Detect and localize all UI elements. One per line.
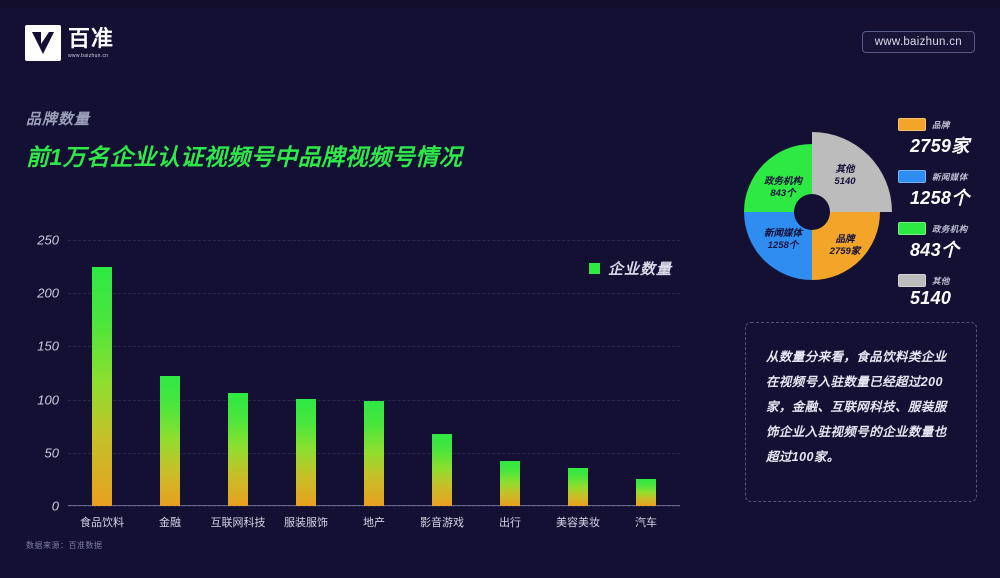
grid-line — [68, 506, 680, 507]
bar-chart-legend: 企业数量 — [589, 258, 672, 279]
brand-logo: 百准 www.baizhun.cn — [25, 25, 114, 61]
legend-swatch-icon — [898, 274, 926, 287]
donut-legend-item[interactable]: 政务机构843个 — [898, 222, 996, 262]
grid-line — [68, 346, 680, 347]
legend-swatch-icon — [589, 263, 600, 274]
x-axis-tick-label: 地产 — [363, 514, 385, 530]
bar[interactable] — [228, 393, 248, 506]
x-axis-tick-label: 美容美妆 — [556, 514, 600, 530]
donut-label-other: 其他5140 — [816, 164, 874, 188]
section-subtitle: 品牌数量 — [26, 108, 90, 129]
y-axis-tick-label: 200 — [37, 286, 59, 301]
donut-legend-item[interactable]: 其他5140 — [898, 274, 996, 309]
y-axis-tick-label: 100 — [37, 392, 59, 407]
donut-chart-svg — [722, 122, 902, 302]
bar-chart: 050100150200250食品饮料金融互联网科技服装服饰地产影音游戏出行美容… — [20, 228, 690, 528]
bar[interactable] — [636, 479, 656, 506]
bar-chart-plot-area: 050100150200250食品饮料金融互联网科技服装服饰地产影音游戏出行美容… — [68, 240, 680, 506]
donut-label-government: 政务机构843个 — [752, 176, 814, 200]
x-axis-tick-label: 影音游戏 — [420, 514, 464, 530]
donut-legend-name: 新闻媒体 — [932, 171, 968, 183]
x-axis-tick-label: 出行 — [499, 514, 521, 530]
slide-canvas: 百准 www.baizhun.cn www.baizhun.cn 品牌数量 前1… — [0, 0, 1000, 578]
donut-legend-name: 政务机构 — [932, 223, 968, 235]
donut-legend-value: 5140 — [910, 288, 996, 309]
bar[interactable] — [500, 461, 520, 506]
insight-note-box: 从数量分来看，食品饮料类企业在视频号入驻数量已经超过200家，金融、互联网科技、… — [745, 322, 977, 502]
x-axis-tick-label: 服装服饰 — [284, 514, 328, 530]
y-axis-tick-label: 250 — [37, 233, 59, 248]
x-axis-tick-label: 汽车 — [635, 514, 657, 530]
data-source-note: 数据来源：百准数据 — [26, 540, 103, 551]
legend-swatch-icon — [898, 170, 926, 183]
bar[interactable] — [364, 401, 384, 506]
logo-check-icon — [25, 25, 61, 61]
bar[interactable] — [296, 399, 316, 506]
grid-line — [68, 240, 680, 241]
bar[interactable] — [92, 267, 112, 506]
legend-swatch-icon — [898, 118, 926, 131]
x-axis-tick-label: 食品饮料 — [80, 514, 124, 530]
bar[interactable] — [568, 468, 588, 506]
donut-chart: 政务机构843个 新闻媒体1258个 品牌2759家 其他5140 — [722, 122, 902, 302]
logo-wordmark: 百准 — [68, 28, 114, 50]
donut-legend-item[interactable]: 新闻媒体1258个 — [898, 170, 996, 210]
legend-swatch-icon — [898, 222, 926, 235]
top-band — [0, 0, 1000, 8]
bar[interactable] — [432, 434, 452, 506]
page-title: 前1万名企业认证视频号中品牌视频号情况 — [26, 138, 462, 172]
donut-legend-value: 843个 — [910, 236, 996, 262]
website-badge[interactable]: www.baizhun.cn — [862, 31, 975, 53]
legend-label: 企业数量 — [608, 258, 672, 279]
grid-line — [68, 293, 680, 294]
logo-url-text: www.baizhun.cn — [68, 53, 114, 59]
donut-legend-name: 其他 — [932, 275, 950, 287]
y-axis-tick-label: 0 — [52, 499, 59, 514]
donut-legend-name: 品牌 — [932, 119, 950, 131]
donut-legend-value: 1258个 — [910, 184, 996, 210]
y-axis-tick-label: 50 — [45, 445, 59, 460]
donut-label-news-media: 新闻媒体1258个 — [752, 228, 814, 252]
y-axis-tick-label: 150 — [37, 339, 59, 354]
x-axis-tick-label: 金融 — [159, 514, 181, 530]
x-axis-tick-label: 互联网科技 — [211, 514, 266, 530]
bar[interactable] — [160, 376, 180, 506]
donut-legend-item[interactable]: 品牌2759家 — [898, 118, 996, 158]
donut-label-brand: 品牌2759家 — [814, 234, 876, 258]
donut-legend-value: 2759家 — [910, 132, 996, 158]
donut-legend: 品牌2759家新闻媒体1258个政务机构843个其他5140 — [898, 118, 996, 321]
insight-note-text: 从数量分来看，食品饮料类企业在视频号入驻数量已经超过200家，金融、互联网科技、… — [766, 345, 956, 470]
